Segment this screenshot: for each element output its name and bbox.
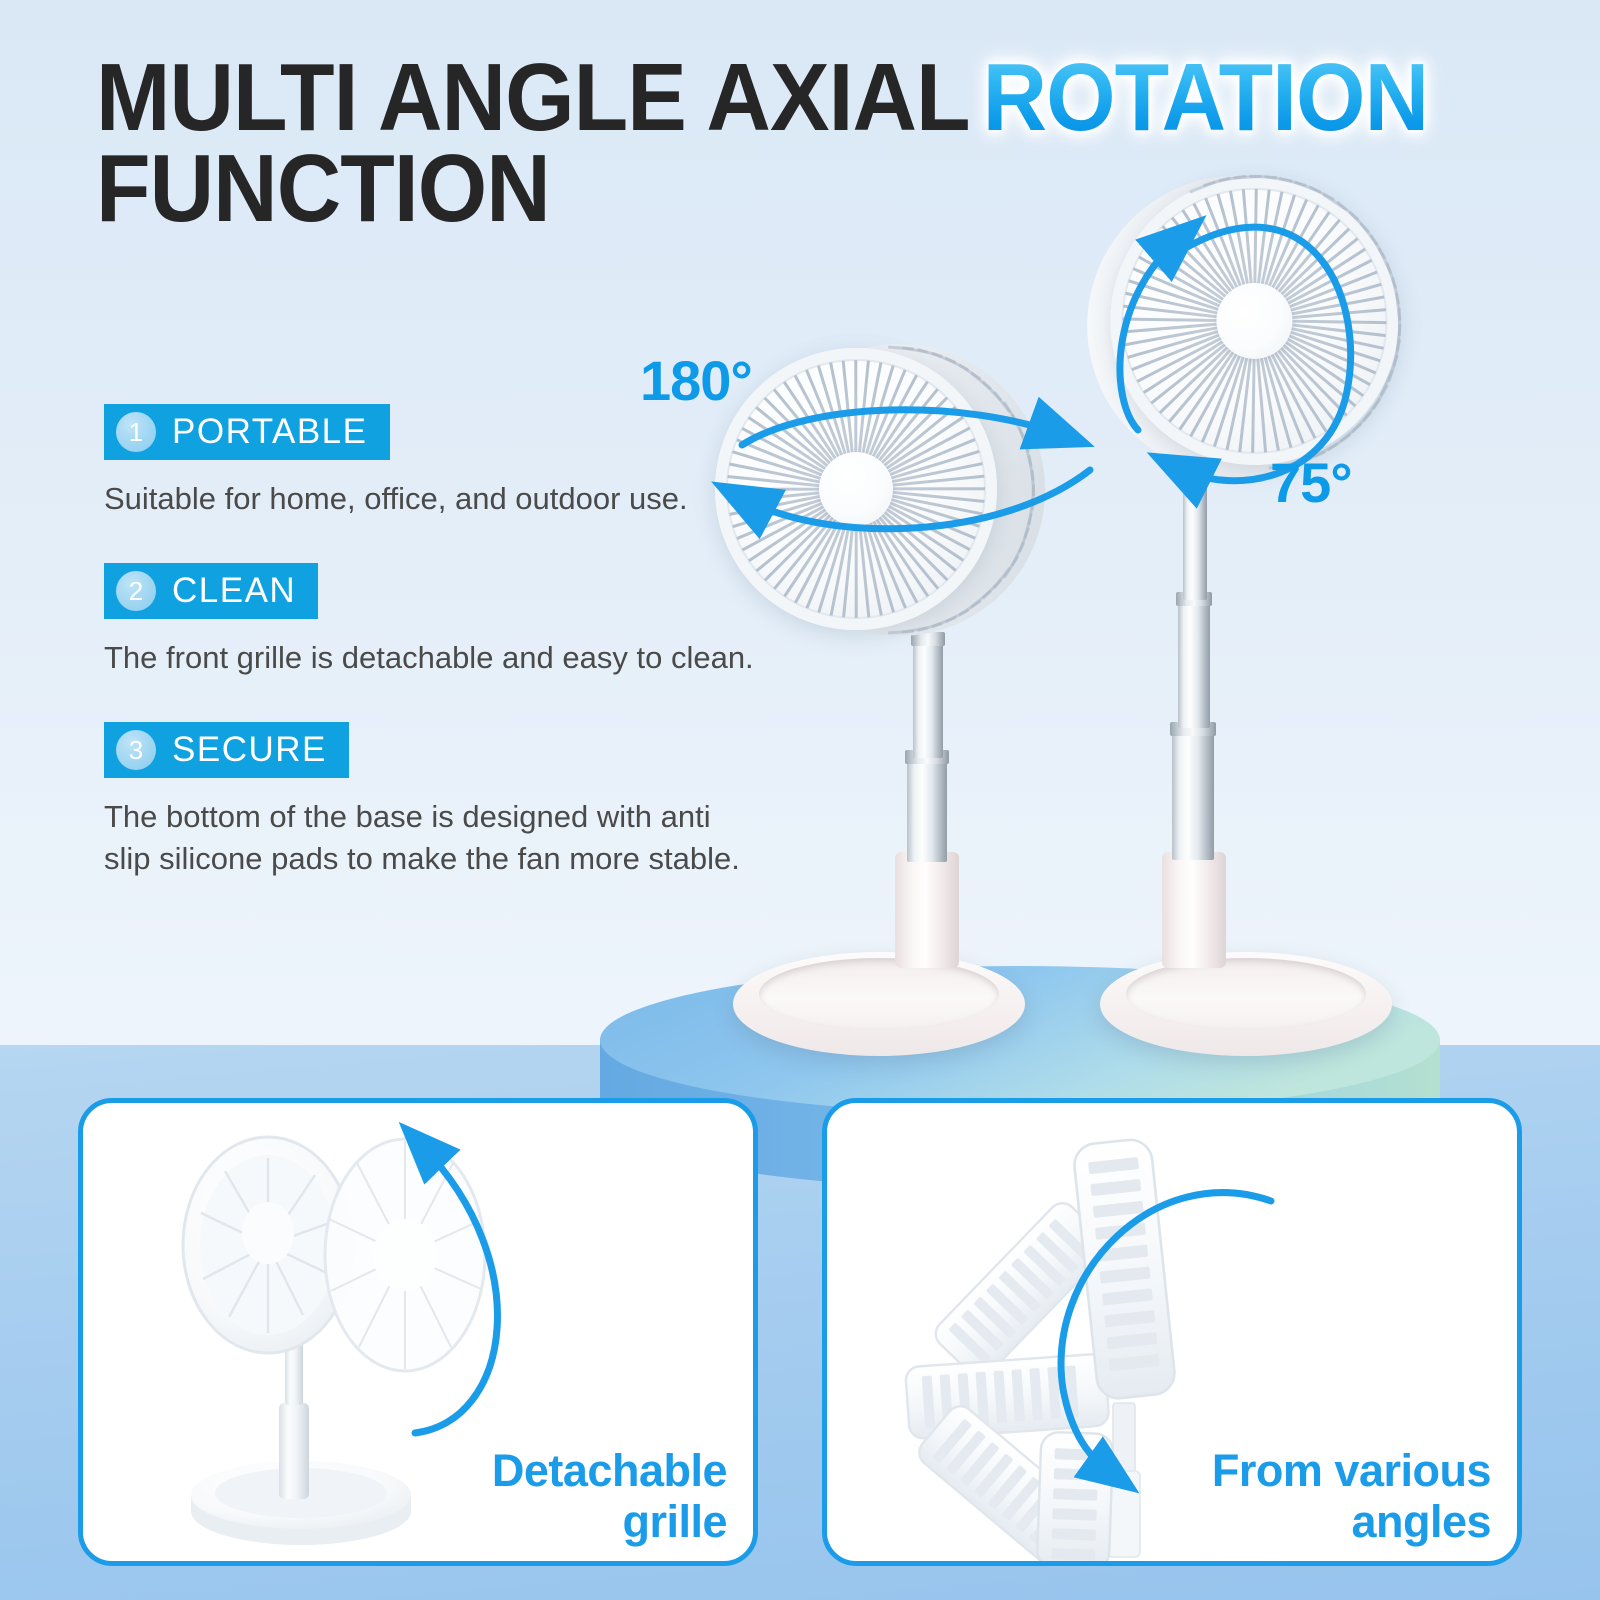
page-title: MULTI ANGLE AXIALROTATION FUNCTION: [96, 52, 1556, 234]
fan-pole-lower-left: [907, 758, 947, 862]
feature-title-2: CLEAN: [172, 571, 296, 611]
headline-blue-part: ROTATION: [983, 44, 1428, 151]
fan-pole-seg2-right: [1178, 600, 1210, 728]
feature-item-portable: 1 PORTABLE Suitable for home, office, an…: [104, 404, 784, 519]
fan-pole-collar-right: [1162, 852, 1226, 968]
headline-line-1: MULTI ANGLE AXIALROTATION: [96, 52, 1454, 143]
feature-desc-2: The front grille is detachable and easy …: [104, 637, 764, 678]
feature-item-secure: 3 SECURE The bottom of the base is desig…: [104, 722, 784, 878]
angle-label-vertical: 75°: [1270, 450, 1352, 515]
infographic-page: MULTI ANGLE AXIALROTATION FUNCTION 1 POR…: [0, 0, 1600, 1600]
angle-label-horizontal: 180°: [640, 348, 752, 413]
feature-title-1: PORTABLE: [172, 412, 368, 452]
panel-detachable-grille: Detachable grille: [78, 1098, 758, 1566]
fan-base-inner-left: [759, 958, 999, 1030]
housing-vent-slot: [888, 629, 914, 634]
panel-caption-line2-right: angles: [1212, 1497, 1491, 1547]
panel-caption-detachable: Detachable grille: [492, 1446, 727, 1547]
panel-caption-angles: From various angles: [1212, 1446, 1491, 1547]
panel-various-angles: From various angles: [822, 1098, 1522, 1566]
feature-desc-3: The bottom of the base is designed with …: [104, 796, 764, 878]
feature-list: 1 PORTABLE Suitable for home, office, an…: [104, 404, 784, 923]
fan-pole-collar-left: [895, 852, 959, 968]
headline-line-2: FUNCTION: [96, 143, 1454, 234]
fan-pole-upper-left: [913, 640, 943, 758]
feature-number-3: 3: [116, 730, 156, 770]
fan-product-right: [1090, 170, 1420, 1060]
feature-number-1: 1: [116, 412, 156, 452]
feature-badge-2: 2 CLEAN: [104, 563, 318, 619]
feature-badge-3: 3 SECURE: [104, 722, 349, 778]
feature-number-2: 2: [116, 571, 156, 611]
panel-caption-line2-left: grille: [492, 1497, 727, 1547]
fan-pole-seg3-right: [1172, 730, 1214, 860]
fan-base-inner-right: [1126, 958, 1366, 1030]
feature-desc-1: Suitable for home, office, and outdoor u…: [104, 478, 764, 519]
feature-title-3: SECURE: [172, 730, 327, 770]
panel-caption-line1-right: From various: [1212, 1446, 1491, 1496]
feature-item-clean: 2 CLEAN The front grille is detachable a…: [104, 563, 784, 678]
feature-badge-1: 1 PORTABLE: [104, 404, 390, 460]
panel-caption-line1-left: Detachable: [492, 1446, 727, 1496]
